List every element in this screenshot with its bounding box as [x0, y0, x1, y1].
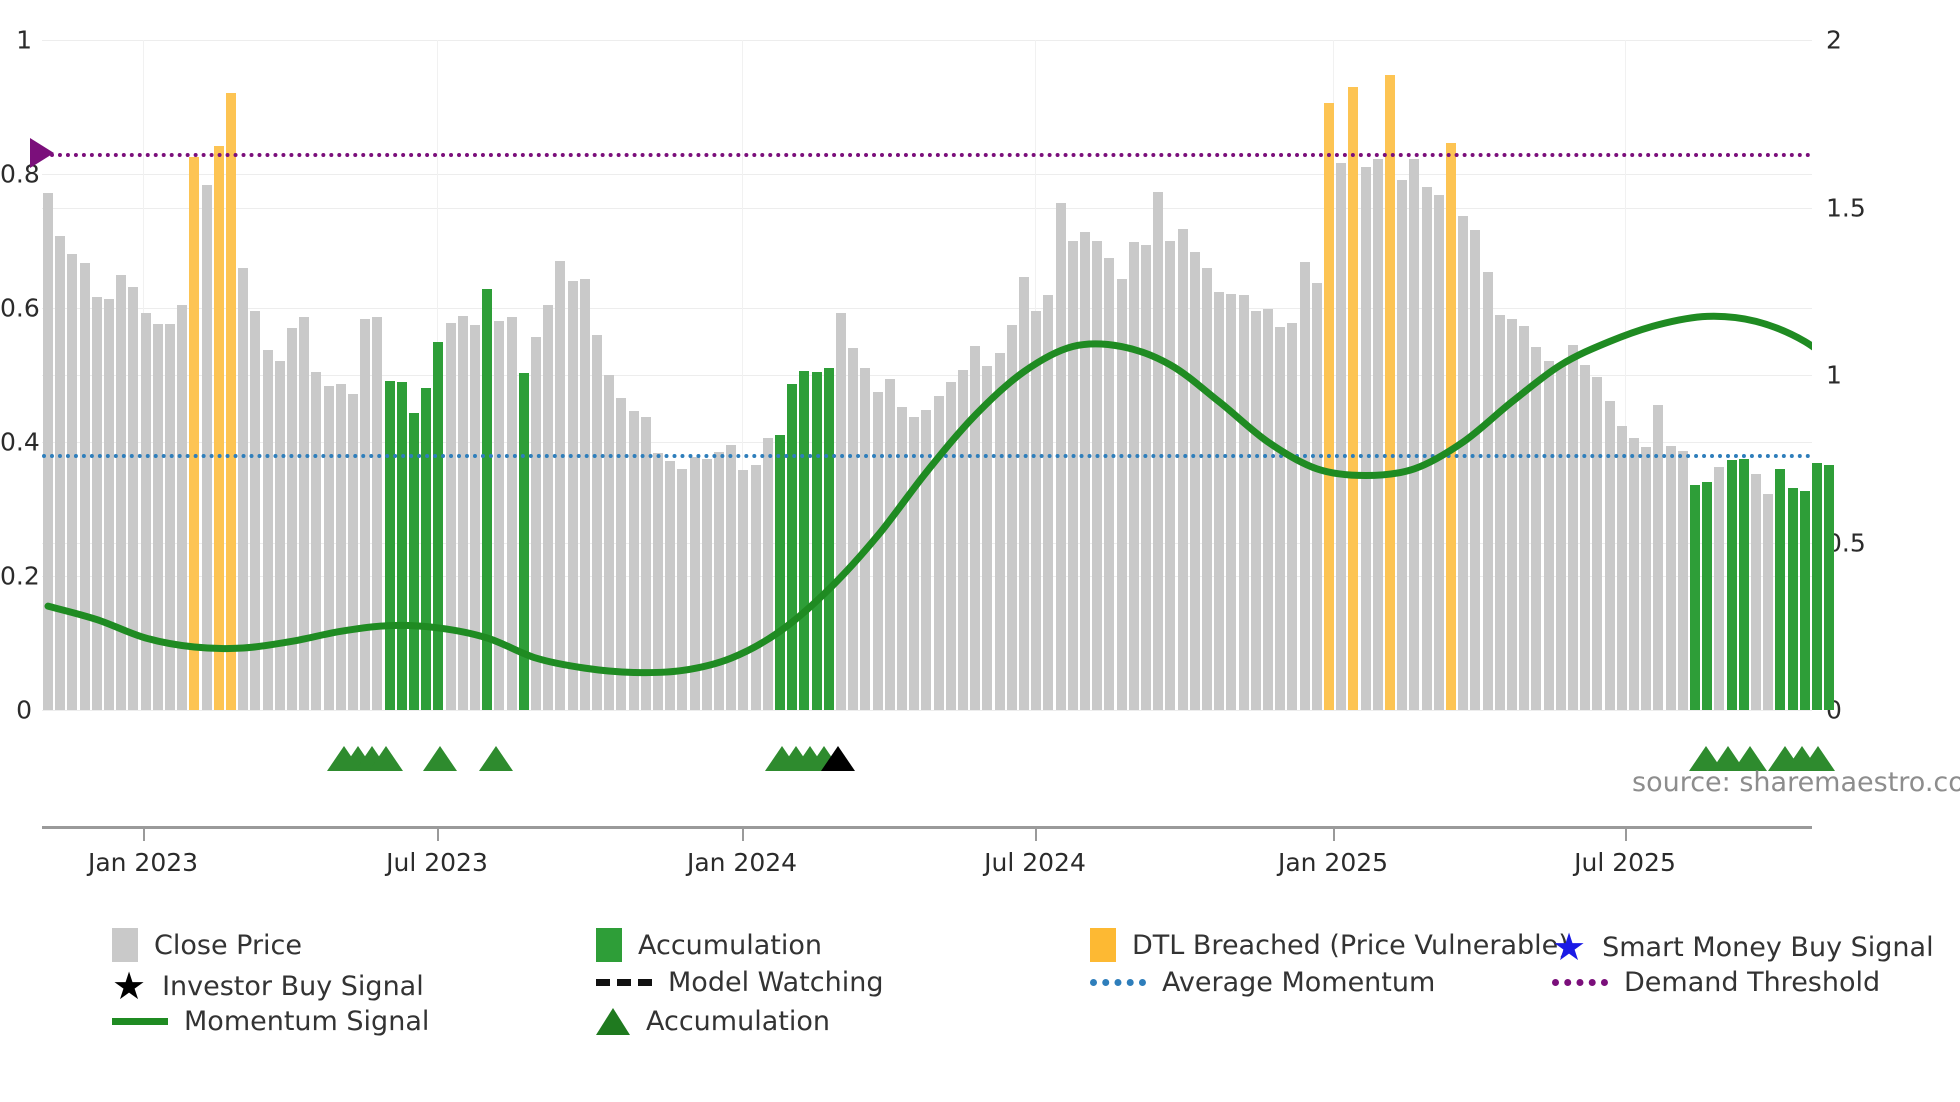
legend-label: Momentum Signal: [184, 1006, 429, 1037]
legend-label: Demand Threshold: [1624, 967, 1880, 998]
x-axis-tick-mark: [437, 829, 439, 841]
momentum-signal-curve: [42, 40, 1812, 710]
left-axis-tick-label: 1: [0, 26, 32, 55]
right-axis-tick-label: 2: [1826, 26, 1842, 55]
x-axis-tick-mark: [1625, 829, 1627, 841]
demand-threshold-start-marker: [28, 136, 58, 170]
accumulation-marker: [369, 746, 403, 771]
x-axis-tick-label: Jul 2025: [1574, 848, 1676, 877]
star-icon: ★: [112, 967, 146, 1005]
left-axis-tick-label: 0.2: [0, 562, 32, 591]
x-axis-line: [42, 826, 1812, 829]
star-icon: ★: [1552, 928, 1586, 966]
legend-accumulation-bar[interactable]: Accumulation: [596, 928, 822, 962]
legend-label: Investor Buy Signal: [162, 971, 424, 1002]
accumulation-marker: [479, 746, 513, 771]
x-axis-tick-mark: [143, 829, 145, 841]
legend-investor-buy-signal[interactable]: ★Investor Buy Signal: [112, 967, 424, 1005]
legend-swatch-rect-icon: [596, 928, 622, 962]
investor-buy-signal-marker: [821, 746, 855, 771]
legend-swatch-dashed-line-icon: [596, 979, 652, 986]
legend-swatch-rect-icon: [1090, 928, 1116, 962]
bar-accumulation: [1812, 463, 1822, 710]
legend-label: Close Price: [154, 930, 302, 961]
chart-root: 10.80.60.40.20 21.510.50 Jan 2023Jul 202…: [0, 0, 1960, 1102]
legend-momentum-signal[interactable]: Momentum Signal: [112, 1006, 429, 1037]
legend-swatch-dotted-line-icon: [1552, 979, 1608, 986]
legend-label: DTL Breached (Price Vulnerable): [1132, 930, 1569, 961]
triangle-up-icon: [596, 1008, 630, 1035]
legend-swatch-dotted-line-icon: [1090, 979, 1146, 986]
legend-label: Average Momentum: [1162, 967, 1435, 998]
legend-label: Accumulation: [638, 930, 822, 961]
x-axis-tick-label: Jan 2024: [687, 848, 797, 877]
x-axis-tick-label: Jul 2024: [984, 848, 1086, 877]
right-axis-tick-label: 1: [1826, 361, 1842, 390]
legend-swatch-line-icon: [112, 1018, 168, 1025]
accumulation-marker: [423, 746, 457, 771]
legend-label: Accumulation: [646, 1006, 830, 1037]
bar-accumulation: [1824, 465, 1834, 710]
accumulation-marker-row: [42, 735, 1812, 771]
legend-label: Smart Money Buy Signal: [1602, 932, 1934, 963]
legend-swatch-rect-icon: [112, 928, 138, 962]
x-axis-tick-label: Jan 2023: [88, 848, 198, 877]
plot-area: [42, 40, 1812, 710]
left-axis-tick-label: 0: [0, 696, 32, 725]
x-axis-tick-mark: [742, 829, 744, 841]
legend-smart-money-buy-signal[interactable]: ★Smart Money Buy Signal: [1552, 928, 1934, 966]
x-axis-tick-mark: [1035, 829, 1037, 841]
legend-dtl-breached[interactable]: DTL Breached (Price Vulnerable): [1090, 928, 1569, 962]
source-note: source: sharemaestro.com: [1632, 767, 1960, 798]
x-axis-tick-mark: [1333, 829, 1335, 841]
legend-demand-threshold[interactable]: Demand Threshold: [1552, 967, 1880, 998]
legend-accumulation-marker[interactable]: Accumulation: [596, 1006, 830, 1037]
legend-average-momentum[interactable]: Average Momentum: [1090, 967, 1435, 998]
x-axis-tick-label: Jul 2023: [386, 848, 488, 877]
right-axis-tick-label: 1.5: [1826, 193, 1866, 222]
legend-close-price[interactable]: Close Price: [112, 928, 302, 962]
left-axis-tick-label: 0.6: [0, 294, 32, 323]
left-axis-tick-label: 0.4: [0, 428, 32, 457]
legend-label: Model Watching: [668, 967, 883, 998]
x-axis-tick-label: Jan 2025: [1278, 848, 1388, 877]
gridline-horizontal: [42, 710, 1812, 711]
legend-model-watching[interactable]: Model Watching: [596, 967, 883, 998]
